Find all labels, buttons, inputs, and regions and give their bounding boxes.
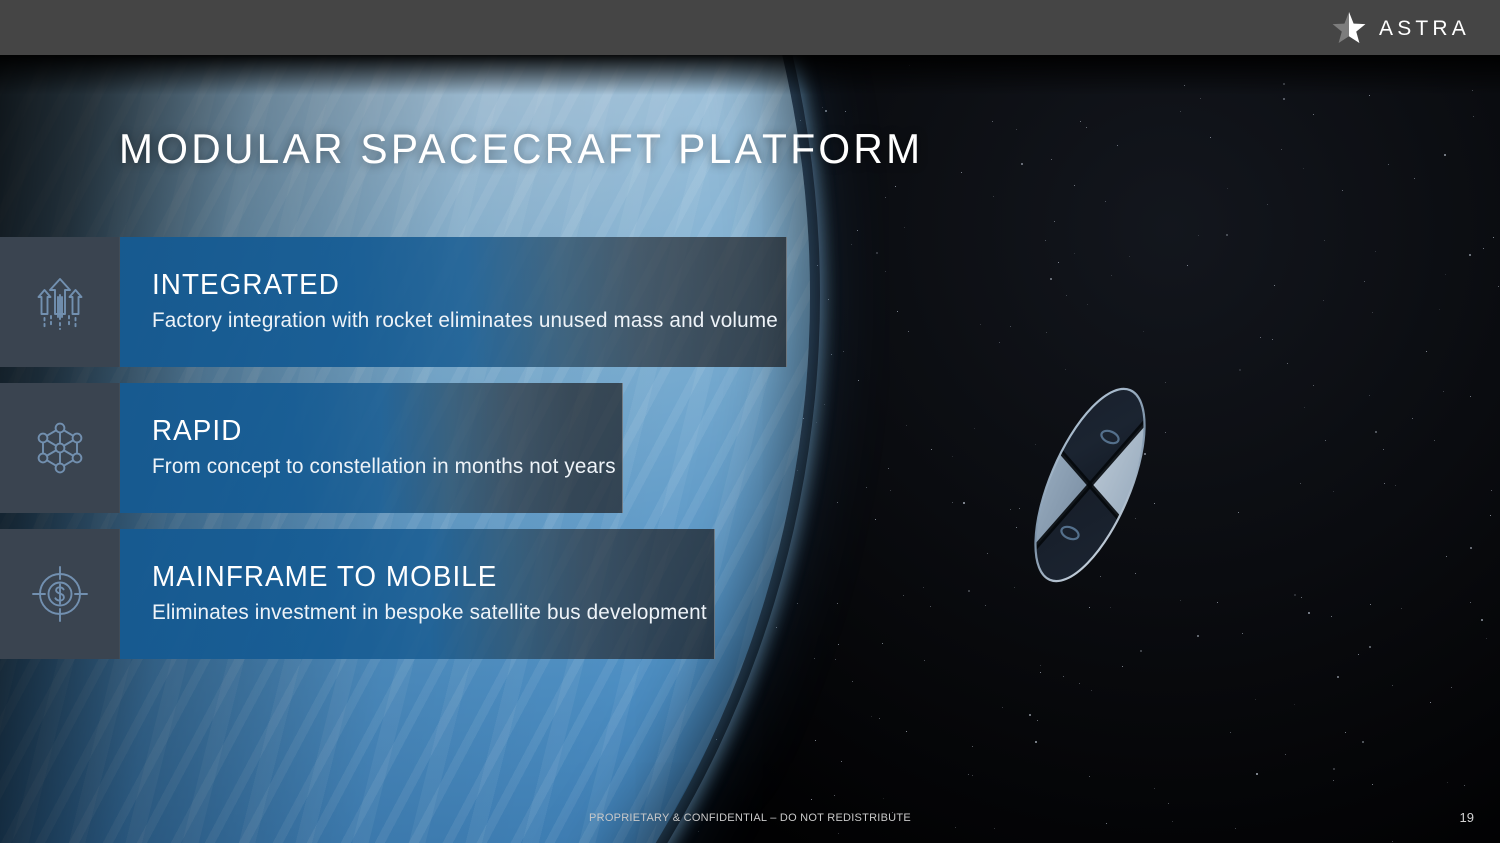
feature-heading: RAPID bbox=[152, 416, 604, 447]
feature-subheading: Eliminates investment in bespoke satelli… bbox=[152, 601, 707, 626]
feature-heading: INTEGRATED bbox=[152, 270, 762, 301]
astra-star-logo-icon bbox=[1332, 11, 1366, 45]
feature-heading: MAINFRAME TO MOBILE bbox=[152, 562, 693, 593]
feature-subheading: Factory integration with rocket eliminat… bbox=[152, 309, 778, 334]
feature-rows: INTEGRATED Factory integration with rock… bbox=[0, 0, 1500, 843]
brand-lockup: ASTRA bbox=[1332, 9, 1470, 46]
feature-row-mainframe-to-mobile[interactable]: MAINFRAME TO MOBILE Eliminates investmen… bbox=[0, 529, 940, 659]
slide-canvas: ASTRA MODULAR SPACECRAFT PLATFORM bbox=[0, 0, 1500, 843]
feature-bar: RAPID From concept to constellation in m… bbox=[120, 383, 623, 513]
feature-subheading: From concept to constellation in months … bbox=[152, 455, 616, 480]
growth-arrows-icon bbox=[0, 237, 120, 367]
feature-bar: MAINFRAME TO MOBILE Eliminates investmen… bbox=[120, 529, 715, 659]
confidentiality-notice: PROPRIETARY & CONFIDENTIAL – DO NOT REDI… bbox=[0, 812, 1500, 824]
page-number: 19 bbox=[1460, 810, 1474, 825]
feature-bar: INTEGRATED Factory integration with rock… bbox=[120, 237, 787, 367]
feature-row-integrated[interactable]: INTEGRATED Factory integration with rock… bbox=[0, 237, 1028, 367]
network-nodes-icon bbox=[0, 383, 120, 513]
top-header-bar: ASTRA bbox=[0, 0, 1500, 55]
brand-name: ASTRA bbox=[1379, 17, 1470, 39]
feature-row-rapid[interactable]: RAPID From concept to constellation in m… bbox=[0, 383, 1018, 513]
target-dollar-icon bbox=[0, 529, 120, 659]
